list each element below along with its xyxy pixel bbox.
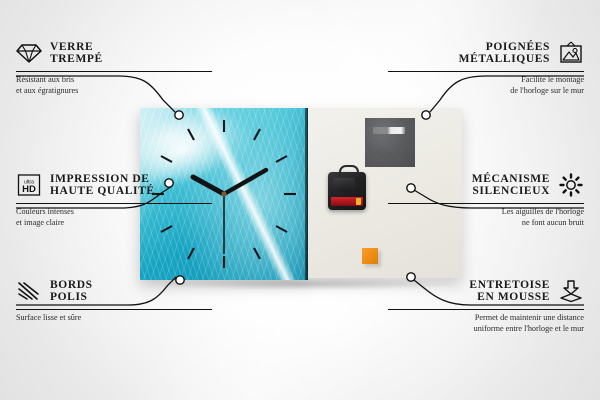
callout-subtitle: Couleurs intenses et image claire: [16, 207, 212, 228]
callout-entretoise-en-mousse: ENTRETOISE EN MOUSSE Permet de maintenir…: [388, 276, 584, 334]
callout-rule: [388, 309, 584, 310]
callout-rule: [388, 203, 584, 204]
infographic-page: VERRE TREMPÉ Résistant aux bris et aux é…: [0, 0, 600, 400]
callout-title: POIGNÉES MÉTALLIQUES: [459, 41, 550, 66]
callout-poignees-metalliques: POIGNÉES MÉTALLIQUES Facilite le montage…: [388, 38, 584, 96]
callout-impression-haute-qualite: ultra HD IMPRESSION DE HAUTE QUALITÉ Cou…: [16, 170, 212, 228]
callout-title: VERRE TREMPÉ: [50, 41, 103, 66]
callout-rule: [16, 309, 212, 310]
callout-title: BORDS POLIS: [50, 279, 93, 304]
callout-subtitle: Permet de maintenir une distance uniform…: [388, 313, 584, 334]
callout-subtitle: Résistant aux bris et aux égratignures: [16, 75, 212, 96]
diamond-icon: [16, 40, 42, 66]
polished-edges-icon: [16, 278, 42, 304]
callout-rule: [16, 203, 212, 204]
callout-title: IMPRESSION DE HAUTE QUALITÉ: [50, 173, 155, 198]
picture-frame-icon: [558, 40, 584, 66]
connector-dot-verre: [175, 111, 183, 119]
callout-subtitle: Surface lisse et sûre: [16, 313, 212, 324]
callout-subtitle: Facilite le montage de l'horloge sur le …: [388, 75, 584, 96]
callout-mecanisme-silencieux: MÉCANISME SILENCIEUX Les aiguilles de l'…: [388, 170, 584, 228]
connector-dot-poignees: [422, 111, 430, 119]
svg-text:HD: HD: [22, 184, 36, 195]
callout-rule: [388, 71, 584, 72]
ultra-hd-icon: ultra HD: [16, 172, 42, 198]
callout-title: ENTRETOISE EN MOUSSE: [469, 279, 550, 304]
callout-rule: [16, 71, 212, 72]
callout-title: MÉCANISME SILENCIEUX: [472, 173, 550, 198]
callout-subtitle: Les aiguilles de l'horloge ne font aucun…: [388, 207, 584, 228]
callout-bords-polis: BORDS POLIS Surface lisse et sûre: [16, 276, 212, 324]
callout-verre-trempe: VERRE TREMPÉ Résistant aux bris et aux é…: [16, 38, 212, 96]
gear-icon: [558, 172, 584, 198]
foam-spacer-icon: [558, 278, 584, 304]
